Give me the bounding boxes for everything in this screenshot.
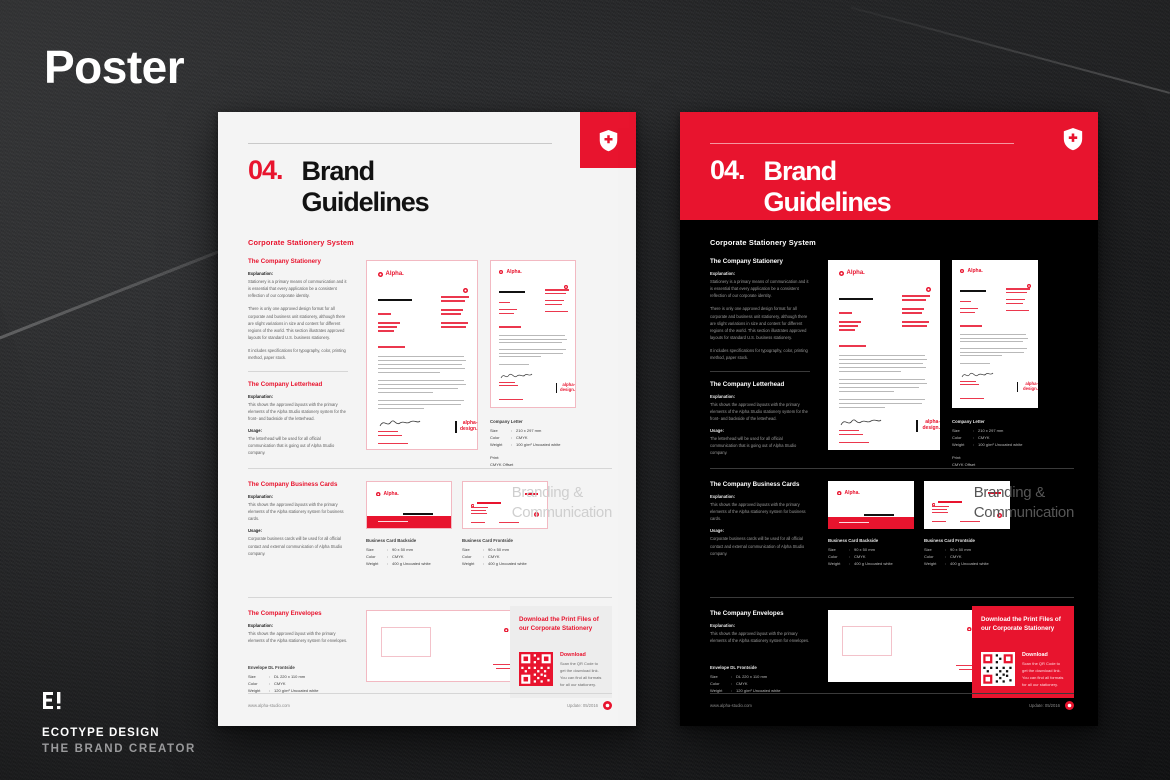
section-business-cards: The Company Business Cards Explanation: … (248, 481, 612, 591)
download-title-line-1: Download the Print Files of (981, 615, 1065, 624)
alpha-dot-icon (1027, 275, 1031, 293)
divider (710, 597, 1074, 598)
envelopes-heading: The Company Envelopes (248, 610, 348, 617)
footer-website[interactable]: www.alpha-studio.com (710, 703, 752, 708)
letterhead-heading: The Company Letterhead (710, 381, 810, 388)
mockup-contact-line (1006, 303, 1023, 304)
specs-print-value: CMYK Offset (952, 461, 1022, 468)
stationery-text-column: The Company Stationery Explanation: Stat… (710, 258, 810, 463)
envelope-window (842, 626, 892, 656)
mockup-recipient-line (839, 325, 858, 327)
specs-row: Weight:100 g/m² Uncoated white (952, 441, 1022, 448)
specs-row: Weight:400 g Uncoated white (828, 560, 893, 567)
letterhead-explanation: This shows the approved layouts with the… (710, 401, 810, 422)
poster-subtitle: Corporate Stationery System (710, 238, 816, 247)
mockup-web-line (902, 325, 927, 327)
mockup-logo: Alpha. (839, 270, 865, 276)
specs-envelope: Envelope DL Frontside Size:DL 220 x 110 … (248, 664, 348, 694)
mockup-body-line (960, 341, 1023, 342)
section-watermark: Branding & Communication (974, 483, 1074, 524)
specs-row: Color:CMYK (248, 680, 348, 687)
poster-title-line1: Brand (764, 156, 891, 187)
mockup-contact-line (932, 512, 948, 513)
mockup-logo: Alpha. (960, 268, 983, 274)
specs-title: Envelope DL Frontside (710, 664, 810, 672)
mockup-contact-line (441, 313, 461, 315)
mockup-date-line (839, 312, 852, 314)
signature-icon (960, 370, 994, 380)
download-panel[interactable]: Download the Print Files of our Corporat… (510, 606, 612, 698)
letterhead-back-mockup: Alpha. (952, 260, 1038, 408)
mockup-body-line (378, 356, 464, 357)
stationery-paragraph-1: Stationery is a primary means of communi… (248, 278, 348, 299)
mockup-web-line (932, 521, 946, 522)
mockup-accent-bar (1017, 382, 1018, 392)
mockup-signer-line (378, 435, 402, 436)
mockup-contact-line (932, 506, 949, 507)
specs-row: Weight:400 g Uncoated white (924, 560, 989, 567)
mockup-body-line (960, 334, 1026, 335)
mockup-logo-text: Alpha. (847, 270, 865, 276)
download-body: Download Scan the QR Code to get the dow… (519, 652, 603, 688)
mockup-date-line (960, 301, 971, 302)
mockup-footer-line (378, 443, 408, 444)
mockup-body-line (839, 371, 901, 372)
footer-update: Update: 05/2016 (1029, 703, 1060, 708)
mockup-address-line (902, 295, 930, 297)
stationery-paragraph-2: There is only one approved design format… (710, 305, 810, 341)
shield-cross-icon (580, 112, 636, 168)
business-cards-heading: The Company Business Cards (710, 481, 810, 488)
mockup-footer-line (960, 398, 984, 399)
mockup-logo: Alpha. (837, 490, 860, 496)
mockup-body-line (499, 364, 529, 365)
section-business-cards: The Company Business Cards Explanation: … (710, 481, 1074, 591)
business-cards-usage: Corporate business cards will be used fo… (710, 535, 810, 556)
mockup-signature-mark: alpha-design. (1021, 382, 1038, 391)
signature-icon (499, 371, 533, 381)
specs-title: Company Letter (952, 418, 1022, 426)
specs-business-card-back: Business Card Backside Size:90 x 50 mm C… (366, 537, 431, 567)
download-heading: Download (1022, 652, 1065, 658)
signature-icon (839, 416, 883, 428)
business-cards-usage: Corporate business cards will be used fo… (248, 535, 348, 556)
mockup-contact-line (441, 309, 463, 311)
letterhead-heading: The Company Letterhead (248, 381, 348, 388)
specs-row: Color:CMYK (952, 434, 1022, 441)
download-title-line-1: Download the Print Files of (519, 615, 603, 624)
alpha-dot-icon (376, 492, 381, 497)
stationery-paragraph-3: It includes specifications for typograph… (710, 347, 810, 361)
stationery-paragraph-2: There is only one approved design format… (248, 305, 348, 341)
qr-code-icon[interactable] (519, 652, 553, 686)
specs-row: Size:90 x 50 mm (828, 546, 893, 553)
mockup-body-line (839, 387, 919, 388)
mockup-contact-line (902, 312, 922, 314)
mockup-contact-line (932, 509, 947, 510)
mockup-body-line (378, 400, 464, 401)
poster-title-line1: Brand (302, 156, 429, 187)
brand-name: ECOTYPE DESIGN (42, 725, 196, 742)
mockup-signer-line (960, 384, 979, 385)
mockup-contact-line (1006, 299, 1025, 300)
letterhead-front-mockup: Alpha. (828, 260, 940, 450)
alpha-dot-icon (960, 269, 965, 274)
divider (710, 371, 810, 372)
poster-header: 04. Brand Guidelines (680, 112, 1098, 220)
envelopes-heading: The Company Envelopes (710, 610, 810, 617)
specs-row: Weight:100 g/m² Uncoated white (490, 441, 560, 448)
mockup-body-line (839, 355, 925, 356)
mockup-signature-mark: alpha-design. (560, 383, 575, 392)
specs-title: Business Card Backside (828, 537, 893, 545)
poster-footer: www.alpha-studio.com Update: 05/2016 (248, 701, 612, 710)
mockup-address-line (1006, 288, 1030, 290)
header-rule (248, 143, 552, 144)
mockup-web-line (545, 311, 568, 312)
mockup-accent-bar (455, 421, 457, 433)
mockup-recipient-line (378, 330, 394, 332)
business-cards-text-column: The Company Business Cards Explanation: … (248, 481, 348, 563)
stationery-explanation-label: Explanation: (710, 271, 810, 276)
mockup-body-line (960, 355, 1002, 356)
mockup-body-line (378, 392, 433, 393)
divider (710, 468, 1074, 469)
mockup-rule (499, 291, 525, 293)
mockup-body-line (378, 380, 464, 381)
letterhead-usage: The letterhead will be used for all offi… (710, 435, 810, 456)
mockup-body-line (378, 384, 466, 385)
download-text: Download Scan the QR Code to get the dow… (560, 652, 603, 688)
envelopes-explanation-label: Explanation: (710, 623, 810, 628)
footer-rule (248, 693, 612, 694)
specs-print-value: CMYK Offset (490, 461, 560, 468)
mockup-body-line (839, 359, 927, 360)
card-footer-line (839, 522, 869, 523)
alpha-dot-icon (839, 271, 844, 276)
specs-title: Business Card Frontside (462, 537, 527, 545)
mockup-recipient-line (839, 329, 855, 331)
mockup-signer-line (839, 434, 863, 435)
mockup-subject-line (378, 346, 405, 348)
section-stationery: The Company Stationery Explanation: Stat… (710, 258, 1074, 458)
mockup-signer-line (499, 385, 518, 386)
footer-right-group: Update: 05/2016 (1029, 701, 1074, 710)
mockup-signature-mark: alpha-design. (460, 421, 478, 432)
specs-row: Color:CMYK (924, 553, 989, 560)
mockup-body-line (378, 408, 424, 409)
brand-signature: ECOTYPE DESIGN THE BRAND CREATOR (42, 690, 196, 758)
divider (248, 468, 612, 469)
mockup-date-line (499, 302, 510, 303)
mockup-web-line (441, 322, 468, 324)
mockup-address-line (545, 289, 569, 291)
signature-icon (378, 417, 422, 429)
qr-code-icon[interactable] (981, 652, 1015, 686)
mockup-contact-line (545, 304, 562, 305)
section-number: 04. (710, 156, 745, 185)
mockup-web-line (441, 326, 466, 328)
page-title: Poster (44, 40, 184, 94)
alpha-dot-icon (603, 701, 612, 710)
mockup-body-line (378, 360, 466, 361)
mockup-contact-line (471, 513, 487, 514)
mockup-body-line (378, 404, 461, 405)
footer-right-group: Update: 05/2016 (567, 701, 612, 710)
poster-footer: www.alpha-studio.com Update: 05/2016 (710, 701, 1074, 710)
download-body: Download Scan the QR Code to get the dow… (981, 652, 1065, 688)
mockup-body-line (378, 368, 465, 369)
mockup-accent-bar (916, 420, 918, 432)
business-cards-explanation: This shows the approved layouts with the… (710, 501, 810, 522)
mockup-body-line (499, 339, 567, 340)
letterhead-explanation: This shows the approved layouts with the… (248, 401, 348, 422)
mockup-body-line (839, 379, 925, 380)
envelopes-text-column: The Company Envelopes Explanation: This … (710, 610, 810, 680)
mockup-body-line (499, 356, 541, 357)
business-cards-usage-label: Usage: (248, 528, 348, 533)
watermark-line-1: Branding & (512, 483, 612, 503)
mockup-contact-line (902, 308, 924, 310)
mockup-rule (864, 514, 894, 516)
divider (248, 597, 612, 598)
poster-body: The Company Stationery Explanation: Stat… (248, 258, 612, 708)
mockup-recipient-line (960, 308, 978, 309)
mockup-rule (960, 290, 986, 292)
alpha-dot-icon (504, 628, 509, 633)
specs-row: Size:210 x 297 mm (952, 427, 1022, 434)
mockup-rule (378, 299, 412, 301)
download-description: Scan the QR Code to get the download lin… (1022, 660, 1065, 688)
specs-row: Size:DL 220 x 110 mm (710, 673, 810, 680)
specs-row: Size:90 x 50 mm (366, 546, 431, 553)
download-text: Download Scan the QR Code to get the dow… (1022, 652, 1065, 688)
mockup-contact-line (471, 510, 486, 511)
envelope-window (381, 627, 431, 657)
specs-company-letter: Company Letter Size:210 x 297 mm Color:C… (490, 418, 560, 468)
mockup-body-line (960, 338, 1028, 339)
alpha-dot-icon (564, 276, 568, 294)
alpha-dot-icon (378, 272, 383, 277)
poster-light-variant[interactable]: 04. Brand Guidelines Corporate Stationer… (218, 112, 636, 726)
section-watermark: Branding & Communication (512, 483, 612, 524)
specs-row: Color:CMYK (366, 553, 431, 560)
mockup-footer-line (499, 399, 523, 400)
poster-title: Brand Guidelines (764, 156, 891, 218)
poster-title-group: 04. Brand Guidelines (248, 156, 429, 218)
mockup-contact-line (471, 507, 488, 508)
specs-row: Color:CMYK (490, 434, 560, 441)
mockup-accent-bar (556, 383, 557, 393)
stationery-explanation-label: Explanation: (248, 271, 348, 276)
business-card-back-mockup: Alpha. (366, 481, 452, 529)
specs-title: Envelope DL Frontside (248, 664, 348, 672)
mockup-subject-line (839, 345, 866, 347)
business-cards-text-column: The Company Business Cards Explanation: … (710, 481, 810, 563)
section-stationery: The Company Stationery Explanation: Stat… (248, 258, 612, 458)
download-panel[interactable]: Download the Print Files of our Corporat… (972, 606, 1074, 698)
business-cards-usage-label: Usage: (710, 528, 810, 533)
poster-subtitle: Corporate Stationery System (248, 238, 354, 247)
stationery-paragraph-1: Stationery is a primary means of communi… (710, 278, 810, 299)
download-description: Scan the QR Code to get the download lin… (560, 660, 603, 688)
specs-company-letter: Company Letter Size:210 x 297 mm Color:C… (952, 418, 1022, 468)
business-card-back-mockup: Alpha. (828, 481, 914, 529)
section-envelopes: The Company Envelopes Explanation: This … (710, 610, 1074, 710)
mockup-body-line (839, 367, 926, 368)
shield-cross-icon (1060, 126, 1086, 152)
mockup-logo: Alpha. (376, 491, 399, 497)
mockup-address-line (441, 296, 469, 298)
specs-row: Size:DL 220 x 110 mm (248, 673, 348, 680)
card-footer-line (378, 521, 408, 522)
mockup-rule (403, 513, 433, 515)
brand-tagline: THE BRAND CREATOR (42, 741, 196, 758)
mockup-recipient-line (378, 322, 400, 324)
download-title-line-2: our Corporate Stationery (519, 624, 603, 633)
specs-row: Color:CMYK (828, 553, 893, 560)
download-heading: Download (560, 652, 603, 658)
letterhead-explanation-label: Explanation: (710, 394, 810, 399)
mockup-rule (839, 298, 873, 300)
mockup-body-line (499, 342, 562, 343)
mockup-subject-line (960, 325, 982, 327)
poster-title-group: 04. Brand Guidelines (710, 156, 891, 218)
specs-row: Color:CMYK (462, 553, 527, 560)
alpha-dot-icon (499, 270, 504, 275)
specs-row: Weight:400 g Uncoated white (366, 560, 431, 567)
poster-dark-variant[interactable]: 04. Brand Guidelines Corporate Stationer… (680, 112, 1098, 726)
mockup-body-line (960, 352, 1024, 353)
letterhead-back-mockup: Alpha. (490, 260, 576, 408)
watermark-line-2: Communication (974, 503, 1074, 523)
mockup-address-line (441, 300, 465, 302)
stationery-heading: The Company Stationery (710, 258, 810, 265)
mockup-body-line (960, 348, 1027, 349)
footer-rule (710, 693, 1074, 694)
alpha-dot-icon (837, 491, 842, 496)
letterhead-usage-label: Usage: (248, 428, 348, 433)
specs-row: Size:90 x 50 mm (924, 546, 989, 553)
mockup-address-line (902, 299, 926, 301)
mockup-recipient-line (839, 321, 861, 323)
mockup-signer-line (839, 430, 859, 431)
poster-title-line2: Guidelines (764, 187, 891, 218)
mockup-recipient-line (499, 313, 514, 314)
mockup-recipient-line (378, 326, 397, 328)
specs-business-card-front: Business Card Frontside Size:90 x 50 mm … (462, 537, 527, 567)
watermark-line-1: Branding & (974, 483, 1074, 503)
watermark-line-2: Communication (512, 503, 612, 523)
mockup-body-line (839, 403, 922, 404)
specs-business-card-back: Business Card Backside Size:90 x 50 mm C… (828, 537, 893, 567)
header-rule (710, 143, 1014, 144)
specs-row: Size:90 x 50 mm (462, 546, 527, 553)
specs-row: Color:CMYK (710, 680, 810, 687)
mockup-body-line (839, 383, 927, 384)
stationery-paragraph-3: It includes specifications for typograph… (248, 347, 348, 361)
mockup-date-line (378, 313, 391, 315)
letterhead-front-mockup: Alpha. (366, 260, 478, 450)
mockup-logo: Alpha. (378, 271, 404, 277)
mockup-body-line (378, 364, 462, 365)
download-panel-title: Download the Print Files of our Corporat… (519, 615, 603, 634)
mockup-subject-line (499, 326, 521, 328)
mockup-body-line (499, 353, 563, 354)
poster-title: Brand Guidelines (302, 156, 429, 218)
mockup-logo-text: Alpha. (386, 271, 404, 277)
mockup-contact-line (545, 300, 564, 301)
footer-update: Update: 05/2016 (567, 703, 598, 708)
mockup-signer-line (378, 431, 398, 432)
mockup-logo-text: Alpha. (845, 490, 860, 496)
mockup-body-line (839, 399, 925, 400)
mockup-logo-text: Alpha. (968, 268, 983, 274)
mockup-signer-line (499, 382, 515, 383)
mockup-body-line (839, 391, 894, 392)
ecotype-e-mark-icon (42, 690, 68, 716)
divider (248, 371, 348, 372)
mockup-recipient-line (960, 312, 975, 313)
envelopes-explanation: This shows the approved layout with the … (710, 630, 810, 644)
footer-website[interactable]: www.alpha-studio.com (248, 703, 290, 708)
mockup-body-line (960, 363, 990, 364)
mockup-signer-line (960, 381, 976, 382)
alpha-dot-icon (1065, 701, 1074, 710)
poster-title-line2: Guidelines (302, 187, 429, 218)
card-footer-bar (367, 516, 451, 528)
mockup-web-line (1006, 310, 1029, 311)
business-cards-explanation-label: Explanation: (710, 494, 810, 499)
letterhead-usage: The letterhead will be used for all offi… (248, 435, 348, 456)
mockup-web-line (902, 321, 929, 323)
specs-row: Size:210 x 297 mm (490, 427, 560, 434)
mockup-body-line (839, 407, 885, 408)
mockup-web-line (471, 522, 485, 523)
specs-row: Weight:400 g Uncoated white (462, 560, 527, 567)
envelopes-explanation: This shows the approved layout with the … (248, 630, 348, 644)
business-cards-explanation-label: Explanation: (248, 494, 348, 499)
mockup-address-line (1006, 292, 1027, 294)
mockup-body-line (378, 388, 458, 389)
stationery-text-column: The Company Stationery Explanation: Stat… (248, 258, 348, 463)
specs-title: Company Letter (490, 418, 560, 426)
mockup-body-line (839, 363, 923, 364)
download-panel-title: Download the Print Files of our Corporat… (981, 615, 1065, 634)
card-footer-bar (828, 517, 914, 529)
mockup-signature-mark: alpha-design. (921, 420, 940, 431)
mockup-body-line (499, 335, 565, 336)
section-number: 04. (248, 156, 283, 185)
stationery-heading: The Company Stationery (248, 258, 348, 265)
specs-title: Business Card Backside (366, 537, 431, 545)
mockup-body-line (378, 372, 440, 373)
mockup-recipient-line (499, 309, 517, 310)
specs-title: Business Card Frontside (924, 537, 989, 545)
specs-print-label: Print: (952, 454, 1022, 461)
mockup-body-line (499, 349, 566, 350)
mockup-footer-line (839, 442, 869, 443)
mockup-logo-text: Alpha. (507, 269, 522, 275)
business-cards-heading: The Company Business Cards (248, 481, 348, 488)
envelopes-text-column: The Company Envelopes Explanation: This … (248, 610, 348, 680)
envelopes-explanation-label: Explanation: (248, 623, 348, 628)
section-envelopes: The Company Envelopes Explanation: This … (248, 610, 612, 710)
specs-business-card-front: Business Card Frontside Size:90 x 50 mm … (924, 537, 989, 567)
mockup-logo-text: Alpha. (384, 491, 399, 497)
specs-envelope: Envelope DL Frontside Size:DL 220 x 110 … (710, 664, 810, 694)
specs-print-label: Print: (490, 454, 560, 461)
